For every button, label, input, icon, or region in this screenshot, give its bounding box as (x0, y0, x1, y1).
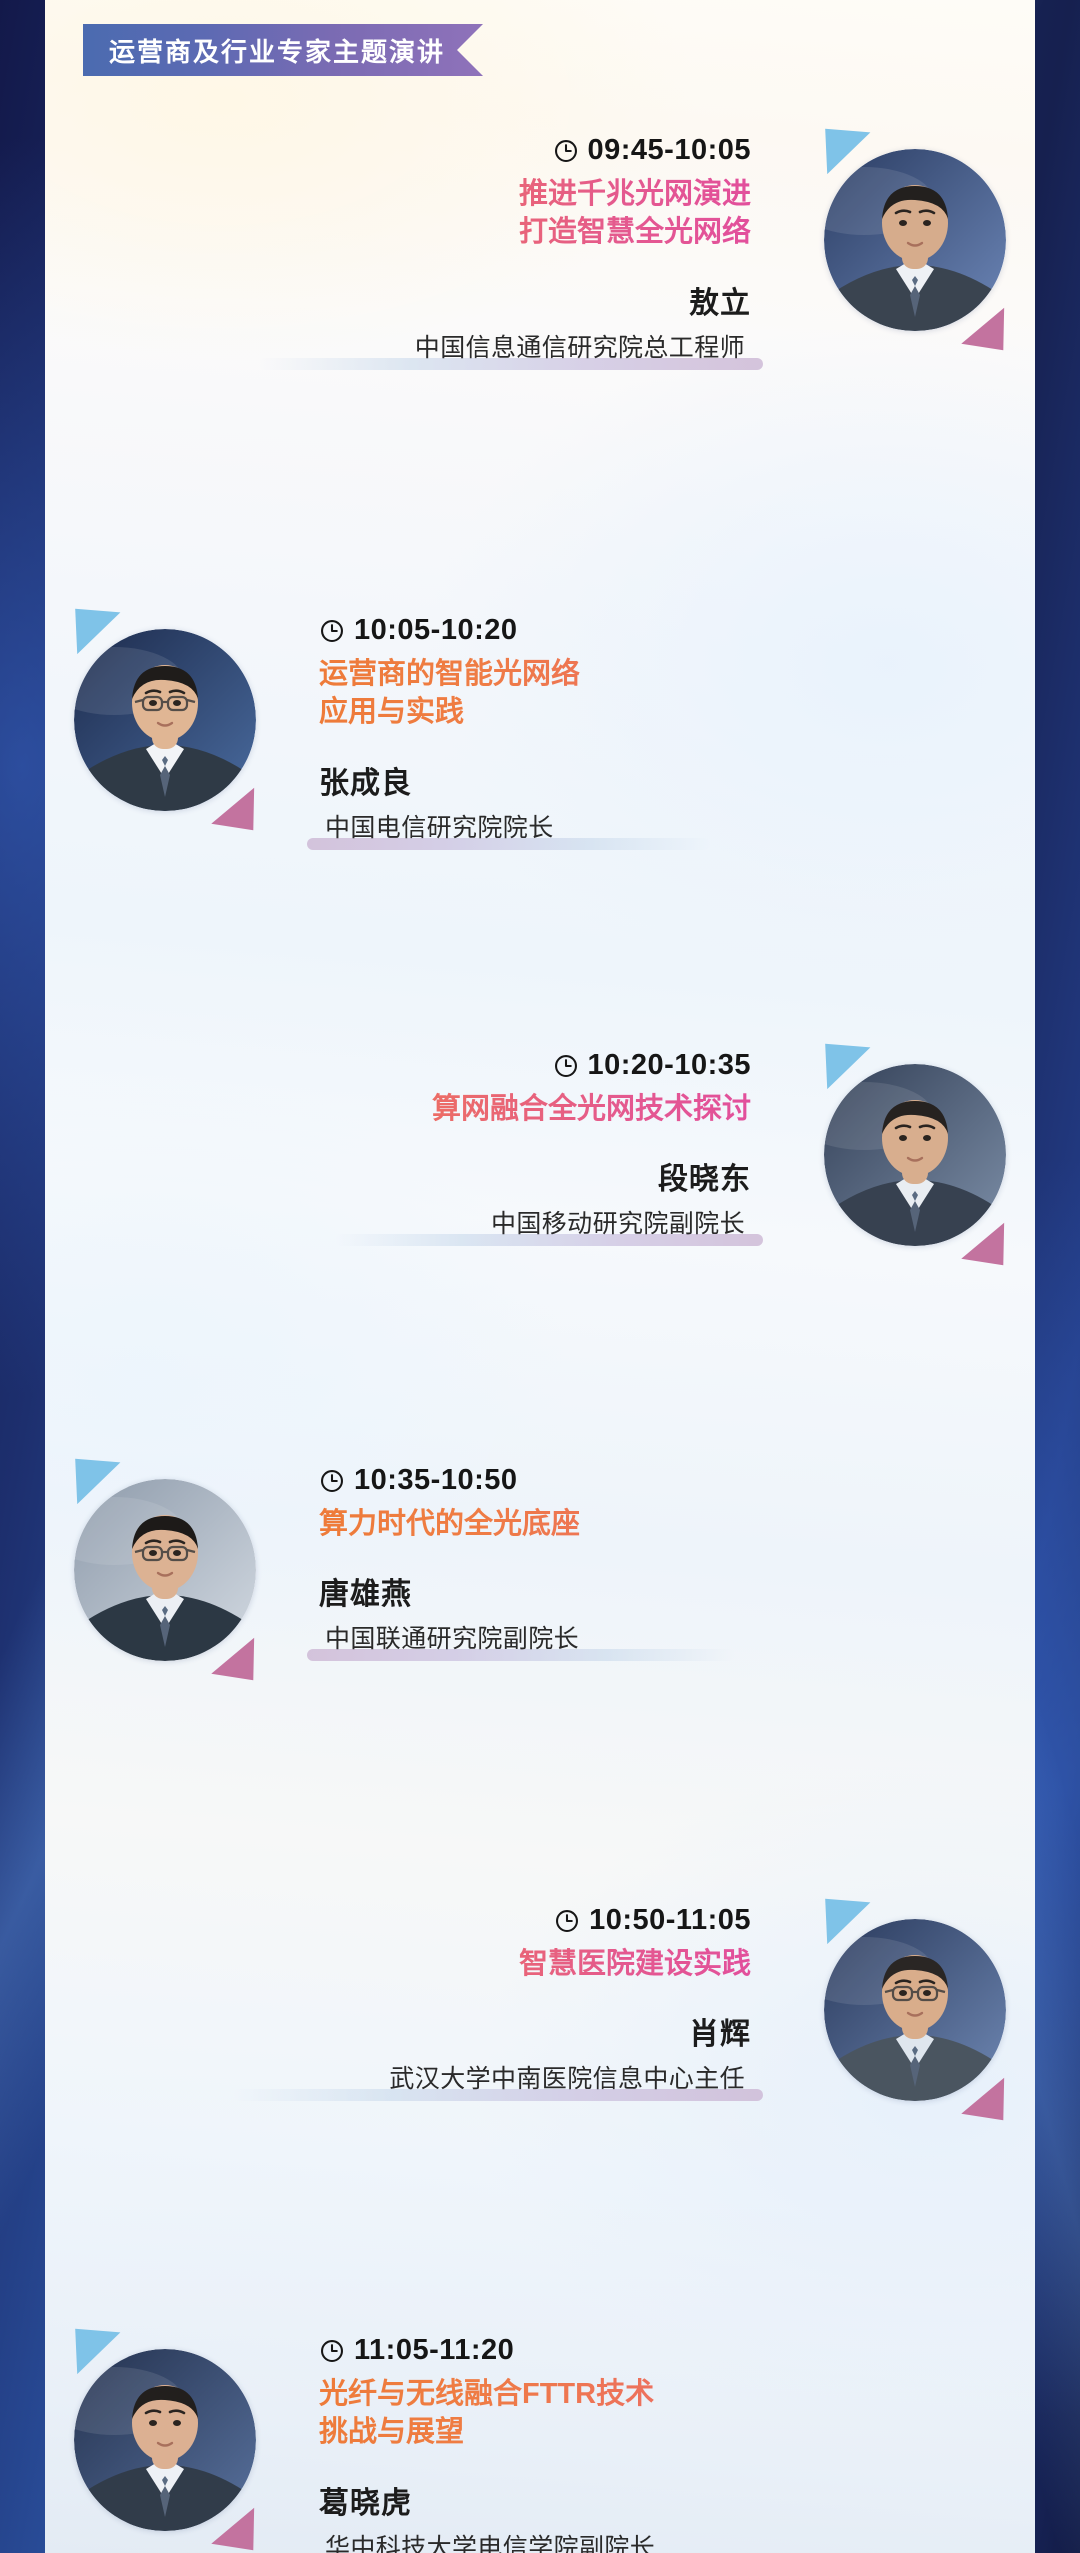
agenda-card: 运营商及行业专家主题演讲 (45, 0, 1035, 2553)
session-time-1: 09:45-10:05 (588, 134, 752, 167)
session-list: 09:45-10:05 推进千兆光网演进 打造智慧全光网络 敖立 中国信息通信研… (45, 0, 1035, 2553)
speaker-avatar (45, 1450, 285, 1690)
speaker-name: 葛晓虎 (319, 2478, 1035, 2522)
clock-icon (553, 138, 579, 164)
session-info: 09:45-10:05 推进千兆光网演进 打造智慧全光网络 敖立 中国信息通信研… (45, 120, 795, 368)
speaker-name: 唐雄燕 (319, 1569, 1035, 1613)
session-time-5: 10:50-11:05 (589, 1904, 751, 1937)
avatar-photo (74, 629, 256, 811)
session-time-4: 10:35-10:50 (354, 1464, 518, 1497)
session-time-row: 10:50-11:05 (45, 1904, 751, 1937)
session-title: 推进千兆光网演进 打造智慧全光网络 (45, 175, 751, 252)
avatar-photo (74, 2349, 256, 2531)
session-time-row: 09:45-10:05 (45, 134, 751, 167)
session-time-row: 10:05-10:20 (319, 614, 1035, 647)
avatar-photo (824, 149, 1006, 331)
avatar-photo (824, 1064, 1006, 1246)
clock-icon (553, 1053, 579, 1079)
speaker-org: 中国联通研究院副院长 (319, 1619, 585, 1659)
speaker-avatar (795, 120, 1035, 360)
session-info: 10:35-10:50 算力时代的全光底座 唐雄燕 中国联通研究院副院长 (285, 1450, 1035, 1659)
clock-icon (319, 618, 345, 644)
speaker-avatar (45, 2320, 285, 2553)
clock-icon (554, 1908, 580, 1934)
session-row-6[interactable]: 11:05-11:20 光纤与无线融合FTTR技术 挑战与展望 葛晓虎 华中科技… (45, 2320, 1035, 2553)
session-row-3[interactable]: 10:20-10:35 算网融合全光网技术探讨 段晓东 中国移动研究院副院长 (45, 1035, 1035, 1275)
avatar-photo (824, 1919, 1006, 2101)
session-time-row: 10:35-10:50 (319, 1464, 1035, 1497)
speaker-org: 中国信息通信研究院总工程师 (409, 328, 751, 368)
speaker-avatar (795, 1890, 1035, 2130)
session-title: 算力时代的全光底座 (319, 1505, 1035, 1543)
session-row-4[interactable]: 10:35-10:50 算力时代的全光底座 唐雄燕 中国联通研究院副院长 (45, 1450, 1035, 1690)
session-title: 智慧医院建设实践 (45, 1945, 751, 1983)
avatar-photo (74, 1479, 256, 1661)
session-info: 10:05-10:20 运营商的智能光网络 应用与实践 张成良 中国电信研究院院… (285, 600, 1035, 848)
speaker-org: 中国电信研究院院长 (319, 808, 560, 848)
clock-icon (319, 1468, 345, 1494)
speaker-name: 肖辉 (45, 2009, 751, 2053)
speaker-avatar (795, 1035, 1035, 1275)
speaker-org: 华中科技大学电信学院副院长 (319, 2528, 661, 2553)
session-time-row: 11:05-11:20 (319, 2334, 1035, 2367)
section-banner-label: 运营商及行业专家主题演讲 (83, 24, 483, 76)
session-time-2: 10:05-10:20 (354, 614, 518, 647)
speaker-avatar (45, 600, 285, 840)
speaker-name: 段晓东 (45, 1154, 751, 1198)
session-title: 算网融合全光网技术探讨 (45, 1090, 751, 1128)
clock-icon (319, 2338, 345, 2364)
session-info: 10:50-11:05 智慧医院建设实践 肖辉 武汉大学中南医院信息中心主任 (45, 1890, 795, 2099)
session-title: 光纤与无线融合FTTR技术 挑战与展望 (319, 2375, 1035, 2452)
session-info: 11:05-11:20 光纤与无线融合FTTR技术 挑战与展望 葛晓虎 华中科技… (285, 2320, 1035, 2553)
session-time-3: 10:20-10:35 (588, 1049, 752, 1082)
session-title: 运营商的智能光网络 应用与实践 (319, 655, 1035, 732)
session-row-1[interactable]: 09:45-10:05 推进千兆光网演进 打造智慧全光网络 敖立 中国信息通信研… (45, 120, 1035, 368)
session-row-5[interactable]: 10:50-11:05 智慧医院建设实践 肖辉 武汉大学中南医院信息中心主任 (45, 1890, 1035, 2130)
section-banner: 运营商及行业专家主题演讲 (83, 24, 483, 76)
session-time-row: 10:20-10:35 (45, 1049, 751, 1082)
session-row-2[interactable]: 10:05-10:20 运营商的智能光网络 应用与实践 张成良 中国电信研究院院… (45, 600, 1035, 848)
session-info: 10:20-10:35 算网融合全光网技术探讨 段晓东 中国移动研究院副院长 (45, 1035, 795, 1244)
poster-page: 运营商及行业专家主题演讲 (0, 0, 1080, 2553)
speaker-name: 敖立 (45, 278, 751, 322)
speaker-name: 张成良 (319, 758, 1035, 802)
speaker-org: 中国移动研究院副院长 (485, 1204, 751, 1244)
session-time-6: 11:05-11:20 (354, 2334, 514, 2367)
speaker-org: 武汉大学中南医院信息中心主任 (383, 2059, 751, 2099)
